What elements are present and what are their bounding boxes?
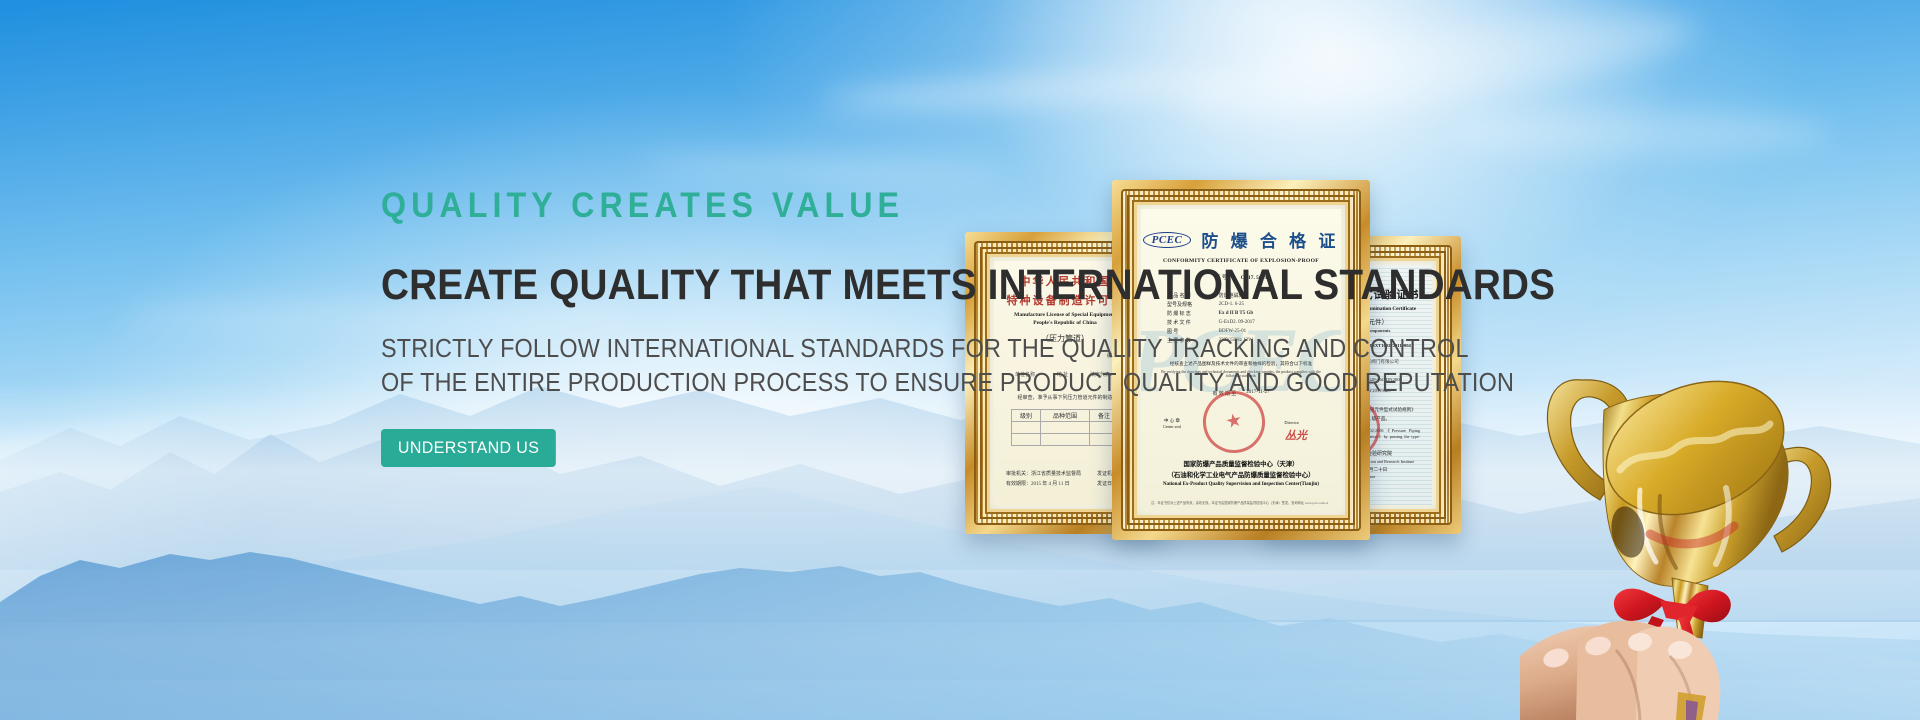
cert-footer-left-2: 有效期限：2015 年 4 月 11 日 (1006, 480, 1081, 487)
cert-issuer-en: National Ex-Product Quality Supervision … (1141, 482, 1341, 487)
cert-fineprint: 注：本证书仅对上述产品有效，涂改无效。本证书由国家防爆产品质量监督检验中心（天津… (1151, 500, 1331, 505)
understand-us-button[interactable]: UNDERSTAND US (381, 429, 556, 467)
hero-banner: 中华人民共和国 特种设备制造许可证 Manufacture License of… (0, 0, 1920, 720)
banner-subcopy: STRICTLY FOLLOW INTERNATIONAL STANDARDS … (381, 311, 1461, 399)
subcopy-line-2: OF THE ENTIRE PRODUCTION PROCESS TO ENSU… (381, 365, 1461, 399)
page-title: CREATE QUALITY THAT MEETS INTERNATIONAL … (381, 227, 1461, 311)
eyebrow-heading: QUALITY CREATES VALUE (381, 185, 1485, 227)
cert-footer-left-1: 审批机关：浙江省质量技术监督局 (1006, 470, 1081, 477)
subcopy-line-1: STRICTLY FOLLOW INTERNATIONAL STANDARDS … (381, 331, 1461, 365)
cert-issuer-cn-2: （石油和化学工业电气产品防爆质量监督检验中心） (1141, 470, 1341, 479)
banner-copy: QUALITY CREATES VALUE CREATE QUALITY THA… (381, 185, 1581, 467)
